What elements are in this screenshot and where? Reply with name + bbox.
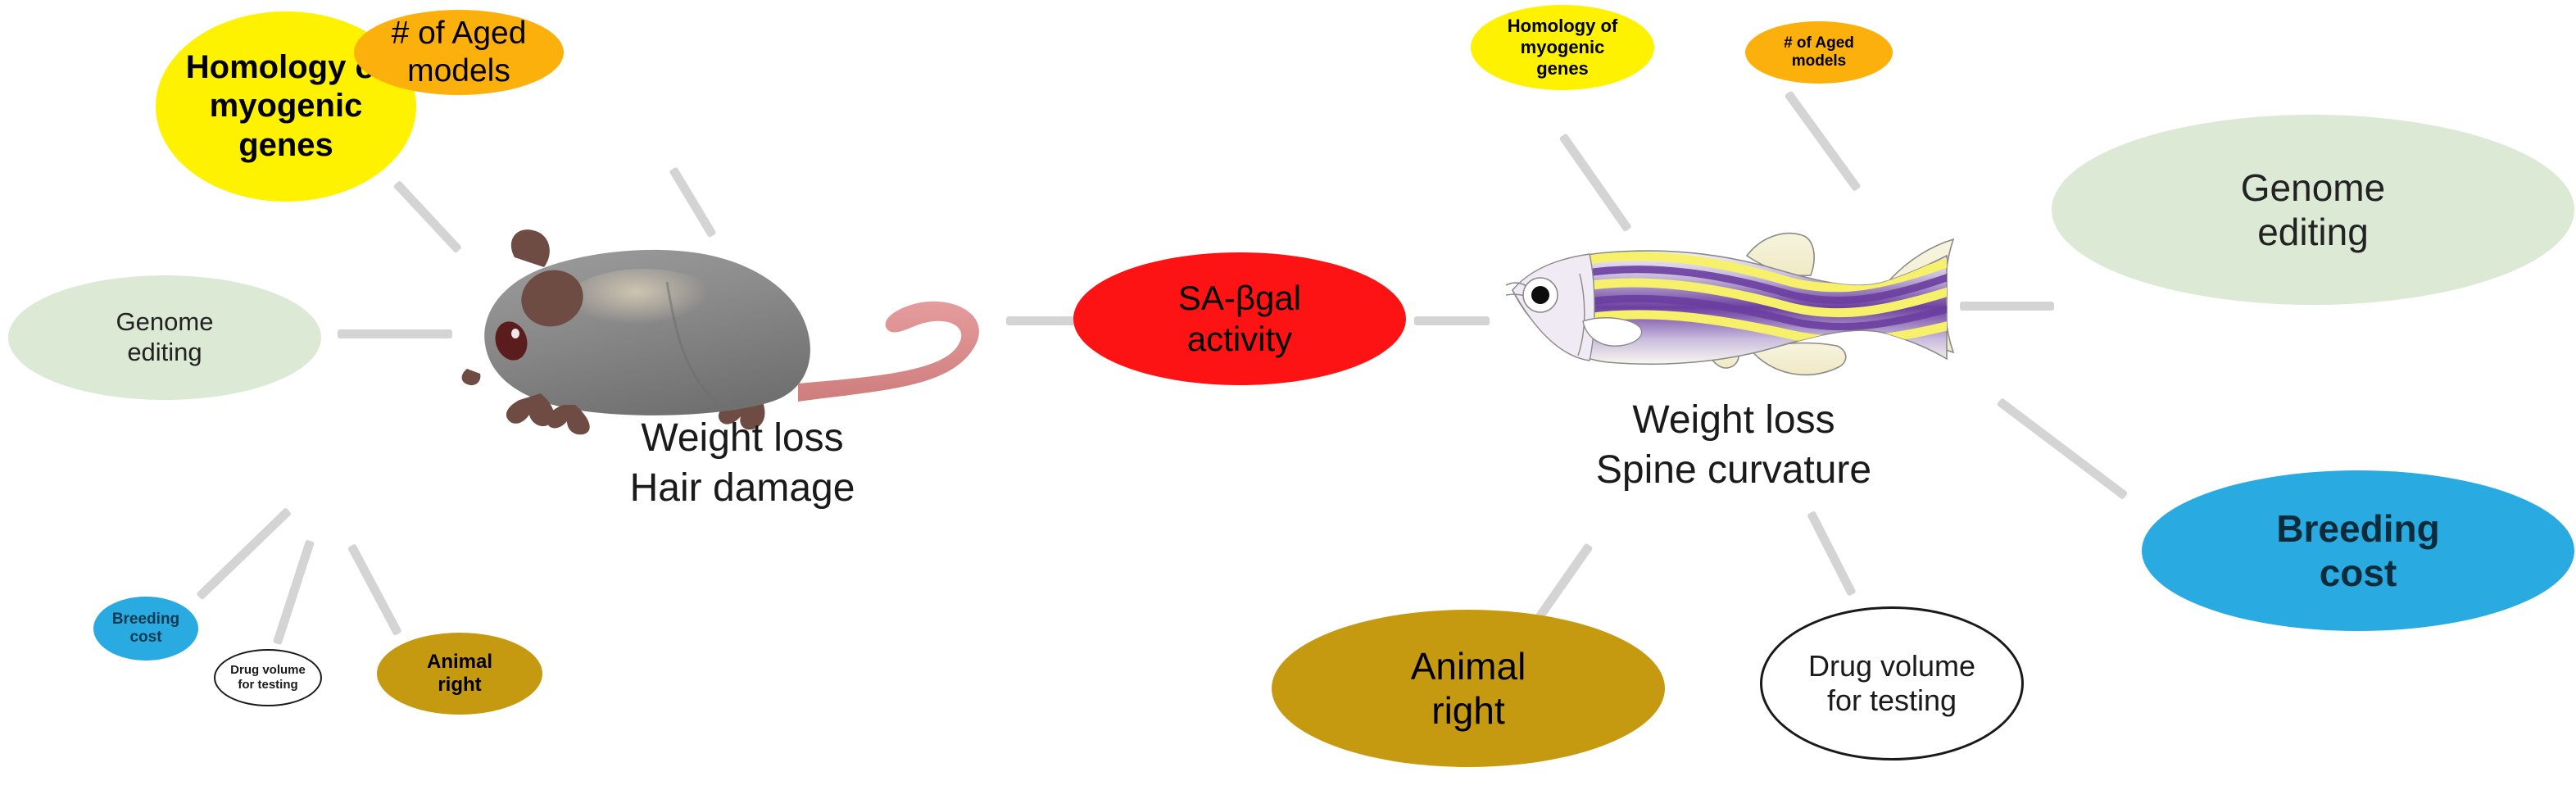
node-label: Genome editing [2241, 166, 2385, 255]
mouse-phenotype-label: Weight loss Hair damage [529, 413, 955, 514]
node-fish-breeding-cost[interactable]: Breeding cost [2142, 470, 2574, 631]
node-fish-genome-editing[interactable]: Genome editing [2052, 115, 2574, 305]
node-label: Homology of myogenic genes [1508, 16, 1617, 79]
node-label: Drug volume for testing [230, 663, 306, 692]
connector-fish-genome [1960, 302, 2054, 311]
node-mouse-animal-right[interactable]: Animal right [377, 633, 542, 715]
node-label: Breeding cost [2276, 506, 2439, 596]
node-fish-number-of-aged-models[interactable]: # of Aged models [1745, 21, 1893, 84]
node-label: SA-βgal activity [1178, 278, 1301, 359]
node-mouse-number-of-aged-models[interactable]: # of Aged models [354, 10, 564, 95]
connector-fish-drug [1807, 511, 1857, 597]
node-fish-homology-of-myogenic-genes[interactable]: Homology of myogenic genes [1471, 5, 1654, 90]
connector-mouse-drug [273, 539, 315, 645]
connector-fish-breeding [1997, 397, 2129, 500]
node-mouse-genome-editing[interactable]: Genome editing [8, 275, 321, 400]
connector-mouse-animal [347, 543, 402, 636]
mouse-illustration [456, 220, 1029, 434]
node-label: Genome editing [116, 307, 214, 367]
node-label: # of Aged models [1784, 34, 1854, 71]
node-mouse-breeding-cost[interactable]: Breeding cost [93, 597, 198, 661]
node-fish-animal-right[interactable]: Animal right [1272, 610, 1665, 767]
node-label: # of Aged models [392, 15, 527, 90]
connector-mouse-genome [338, 329, 452, 338]
node-label: Drug volume for testing [1808, 649, 1975, 719]
node-label: Breeding cost [112, 611, 179, 647]
connector-fish-aged [1785, 90, 1862, 192]
figure-canvas: Homology of myogenic genes # of Aged mod… [0, 0, 2576, 790]
node-label: Animal right [1411, 644, 1526, 733]
connector-mouse-breeding [196, 507, 292, 601]
zebrafish-illustration [1504, 226, 1971, 390]
connector-fish-homology [1558, 133, 1631, 232]
node-mouse-drug-volume-for-testing[interactable]: Drug volume for testing [214, 649, 322, 706]
node-sa-beta-gal-activity[interactable]: SA-βgal activity [1073, 252, 1406, 385]
node-label: Animal right [427, 651, 492, 697]
node-fish-drug-volume-for-testing[interactable]: Drug volume for testing [1760, 606, 2024, 760]
connector-mouse-homology [393, 180, 462, 253]
node-label: Homology of myogenic genes [186, 48, 386, 165]
connector-center-fish [1414, 316, 1490, 325]
fish-phenotype-label: Weight loss Spine curvature [1480, 395, 1988, 496]
